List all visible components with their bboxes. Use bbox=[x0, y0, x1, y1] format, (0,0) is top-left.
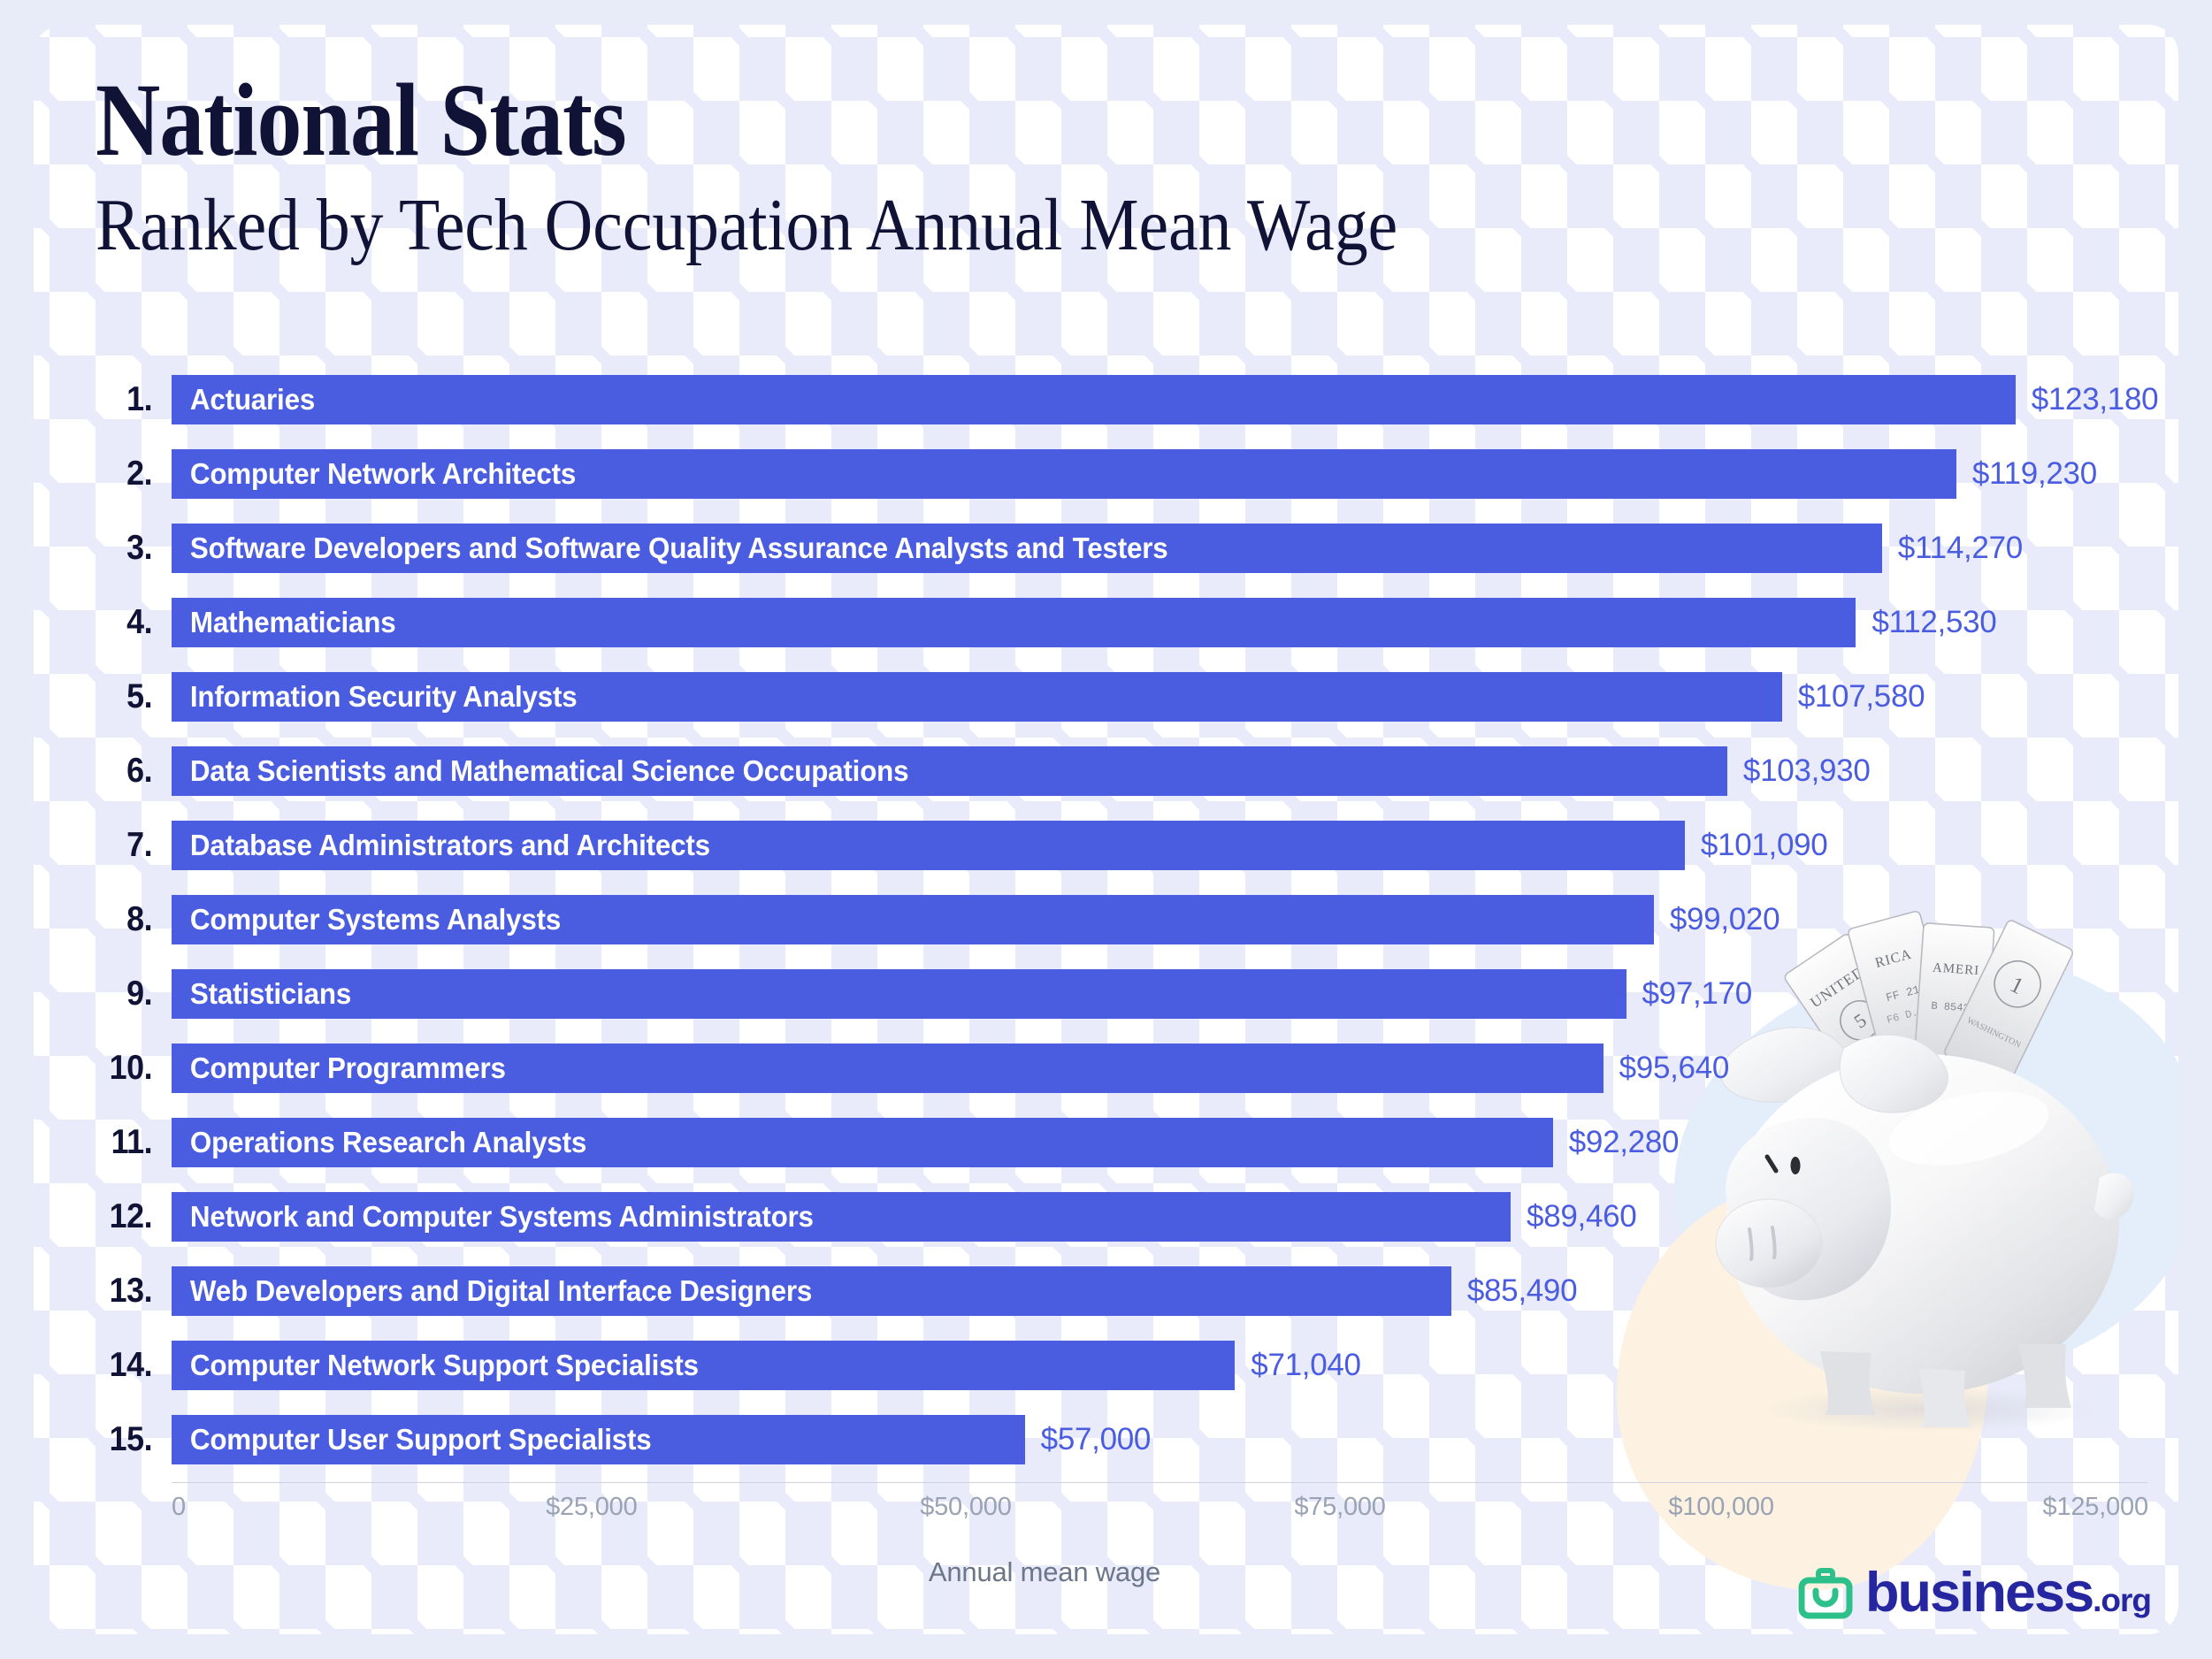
bar-value: $119,230 bbox=[1972, 456, 2097, 492]
logo-suffix: .org bbox=[2093, 1584, 2151, 1617]
bar-label: Information Security Analysts bbox=[172, 680, 577, 714]
rank-number: 13. bbox=[98, 1272, 168, 1311]
infographic-root: UNITED 5 RICA FF 21 F6 D.C. AMERI B 8543… bbox=[0, 0, 2212, 1659]
bar-track: Information Security Analysts$107,580 bbox=[172, 660, 2147, 734]
axis-tick-label: $75,000 bbox=[1294, 1493, 1385, 1522]
bar-row: 7.Database Administrators and Architects… bbox=[96, 808, 2147, 883]
logo-wordmark: business .org bbox=[1865, 1565, 2151, 1621]
bar: Computer Network Support Specialists bbox=[172, 1341, 1235, 1390]
bar-row: 11.Operations Research Analysts$92,280 bbox=[96, 1105, 2147, 1180]
bar-track: Actuaries$123,180 bbox=[172, 363, 2158, 437]
bar-value: $57,000 bbox=[1041, 1422, 1151, 1457]
rank-number: 15. bbox=[98, 1420, 168, 1459]
bar-track: Statisticians$97,170 bbox=[172, 957, 2147, 1031]
rank-number: 5. bbox=[98, 677, 168, 716]
bar-label: Network and Computer Systems Administrat… bbox=[172, 1200, 814, 1234]
rank-number: 1. bbox=[98, 380, 168, 419]
bar-row: 10.Computer Programmers$95,640 bbox=[96, 1031, 2147, 1105]
rank-number: 6. bbox=[98, 752, 168, 791]
bar: Database Administrators and Architects bbox=[172, 821, 1685, 870]
bar-row: 5.Information Security Analysts$107,580 bbox=[96, 660, 2147, 734]
bar-row: 13.Web Developers and Digital Interface … bbox=[96, 1254, 2147, 1328]
bar-label: Statisticians bbox=[172, 977, 351, 1011]
bar-track: Computer Network Support Specialists$71,… bbox=[172, 1328, 2147, 1403]
bar-label: Computer Network Support Specialists bbox=[172, 1349, 699, 1382]
bar: Software Developers and Software Quality… bbox=[172, 524, 1882, 573]
rank-number: 10. bbox=[98, 1049, 168, 1088]
bar-value: $107,580 bbox=[1798, 679, 1925, 715]
rank-number: 14. bbox=[98, 1346, 168, 1385]
bar-value: $95,640 bbox=[1619, 1051, 1729, 1086]
bar-label: Computer Network Architects bbox=[172, 457, 576, 491]
x-axis-line bbox=[172, 1482, 2147, 1483]
bar-chart: 1.Actuaries$123,1802.Computer Network Ar… bbox=[96, 363, 2147, 1477]
bar: Computer Network Architects bbox=[172, 449, 1956, 499]
bar-row: 8.Computer Systems Analysts$99,020 bbox=[96, 883, 2147, 957]
page-subtitle: Ranked by Tech Occupation Annual Mean Wa… bbox=[96, 186, 1942, 264]
business-org-logo[interactable]: business .org bbox=[1798, 1565, 2151, 1621]
bar-label: Computer User Support Specialists bbox=[172, 1423, 651, 1456]
rank-number: 11. bbox=[98, 1123, 168, 1162]
rank-number: 2. bbox=[98, 455, 168, 493]
page-title: National Stats bbox=[96, 67, 1860, 173]
bar-row: 14.Computer Network Support Specialists$… bbox=[96, 1328, 2147, 1403]
bar: Computer Systems Analysts bbox=[172, 895, 1654, 944]
bar-row: 6.Data Scientists and Mathematical Scien… bbox=[96, 734, 2147, 808]
bar-value: $99,020 bbox=[1670, 902, 1780, 937]
rank-number: 8. bbox=[98, 900, 168, 939]
rank-number: 9. bbox=[98, 975, 168, 1013]
rank-number: 4. bbox=[98, 603, 168, 642]
axis-tick-label: 0 bbox=[172, 1493, 186, 1522]
bar: Computer User Support Specialists bbox=[172, 1415, 1025, 1464]
bar: Network and Computer Systems Administrat… bbox=[172, 1192, 1511, 1242]
bar: Actuaries bbox=[172, 375, 2016, 424]
bar-track: Computer User Support Specialists$57,000 bbox=[172, 1403, 2147, 1477]
header: National Stats Ranked by Tech Occupation… bbox=[96, 67, 2147, 264]
logo-name: business bbox=[1865, 1565, 2093, 1621]
x-axis-title-text: Annual mean wage bbox=[929, 1556, 1160, 1588]
bar: Data Scientists and Mathematical Science… bbox=[172, 746, 1727, 796]
axis-tick-label: $50,000 bbox=[920, 1493, 1011, 1522]
bar-track: Computer Systems Analysts$99,020 bbox=[172, 883, 2147, 957]
bar-track: Mathematicians$112,530 bbox=[172, 585, 2147, 660]
bar-track: Software Developers and Software Quality… bbox=[172, 511, 2147, 585]
rank-number: 3. bbox=[98, 529, 168, 568]
rank-number: 7. bbox=[98, 826, 168, 865]
bar-value: $112,530 bbox=[1871, 605, 1996, 640]
bar-label: Computer Programmers bbox=[172, 1051, 506, 1085]
bar-row: 2.Computer Network Architects$119,230 bbox=[96, 437, 2147, 511]
bar-label: Data Scientists and Mathematical Science… bbox=[172, 754, 908, 788]
bar: Statisticians bbox=[172, 969, 1626, 1019]
bar: Computer Programmers bbox=[172, 1044, 1604, 1093]
bar-value: $71,040 bbox=[1251, 1348, 1360, 1383]
axis-tick-label: $125,000 bbox=[2043, 1493, 2148, 1522]
bar-row: 3.Software Developers and Software Quali… bbox=[96, 511, 2147, 585]
bar-track: Data Scientists and Mathematical Science… bbox=[172, 734, 2147, 808]
bar-row: 4.Mathematicians$112,530 bbox=[96, 585, 2147, 660]
bar-track: Computer Programmers$95,640 bbox=[172, 1031, 2147, 1105]
bar-row: 15.Computer User Support Specialists$57,… bbox=[96, 1403, 2147, 1477]
bar: Web Developers and Digital Interface Des… bbox=[172, 1266, 1451, 1316]
bar-row: 12.Network and Computer Systems Administ… bbox=[96, 1180, 2147, 1254]
bar-track: Operations Research Analysts$92,280 bbox=[172, 1105, 2147, 1180]
bar-value: $92,280 bbox=[1569, 1125, 1679, 1160]
bar-value: $123,180 bbox=[2032, 382, 2159, 417]
bar-value: $103,930 bbox=[1743, 753, 1871, 789]
bar-value: $114,270 bbox=[1898, 531, 2023, 566]
bar: Mathematicians bbox=[172, 598, 1856, 647]
bar-label: Mathematicians bbox=[172, 606, 395, 639]
briefcase-icon bbox=[1798, 1566, 1853, 1621]
bar-label: Database Administrators and Architects bbox=[172, 829, 710, 862]
bar-value: $97,170 bbox=[1642, 976, 1752, 1012]
bar-label: Actuaries bbox=[172, 383, 315, 417]
bar-track: Network and Computer Systems Administrat… bbox=[172, 1180, 2147, 1254]
bar-track: Web Developers and Digital Interface Des… bbox=[172, 1254, 2147, 1328]
bar-row: 1.Actuaries$123,180 bbox=[96, 363, 2147, 437]
rank-number: 12. bbox=[98, 1197, 168, 1236]
bar-label: Computer Systems Analysts bbox=[172, 903, 561, 937]
axis-tick-label: $25,000 bbox=[546, 1493, 637, 1522]
bar-track: Computer Network Architects$119,230 bbox=[172, 437, 2147, 511]
x-axis-ticks: 0$25,000$50,000$75,000$100,000$125,000 bbox=[172, 1493, 2147, 1537]
content-card: UNITED 5 RICA FF 21 F6 D.C. AMERI B 8543… bbox=[34, 25, 2178, 1634]
bar-label: Web Developers and Digital Interface Des… bbox=[172, 1274, 812, 1308]
bar: Information Security Analysts bbox=[172, 672, 1782, 722]
bar: Operations Research Analysts bbox=[172, 1118, 1553, 1167]
bar-value: $101,090 bbox=[1701, 828, 1828, 863]
bar-label: Operations Research Analysts bbox=[172, 1126, 586, 1159]
bar-row: 9.Statisticians$97,170 bbox=[96, 957, 2147, 1031]
bar-value: $89,460 bbox=[1527, 1199, 1636, 1235]
axis-tick-label: $100,000 bbox=[1668, 1493, 1773, 1522]
bar-value: $85,490 bbox=[1467, 1273, 1577, 1309]
bar-label: Software Developers and Software Quality… bbox=[172, 531, 1168, 565]
bar-track: Database Administrators and Architects$1… bbox=[172, 808, 2147, 883]
